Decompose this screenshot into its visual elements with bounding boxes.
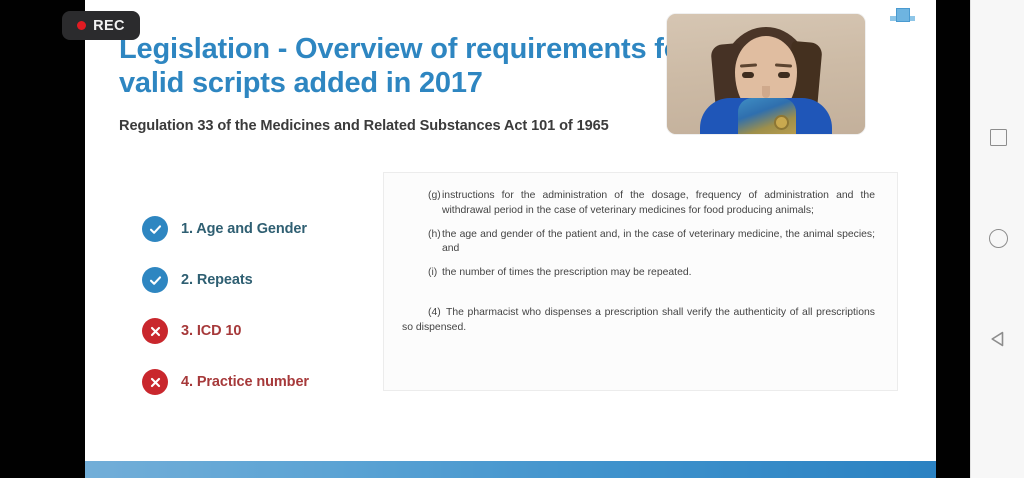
legislation-excerpt-panel: (g) instructions for the administration …: [383, 172, 898, 391]
system-navigation-bar: [970, 0, 1024, 478]
document-subclause: (4)The pharmacist who dispenses a prescr…: [402, 305, 879, 335]
page-title: Legislation - Overview of requirements f…: [119, 33, 759, 101]
list-item: 1. Age and Gender: [142, 212, 412, 246]
square-icon: [990, 129, 1007, 146]
clause-text: instructions for the administration of t…: [442, 189, 879, 219]
nav-recents-button[interactable]: [971, 110, 1024, 164]
recording-badge[interactable]: REC: [62, 11, 140, 40]
check-circle-icon: [142, 216, 168, 242]
screen-root: Legislation - Overview of requirements f…: [0, 0, 1024, 478]
clause-marker: (h): [402, 228, 442, 258]
slide-decorative-glyph: [890, 4, 914, 24]
document-clause: (h) the age and gender of the patient an…: [402, 228, 879, 258]
clause-marker: (g): [402, 189, 442, 219]
check-circle-icon: [142, 267, 168, 293]
list-item-label: 3. ICD 10: [181, 323, 241, 339]
triangle-back-icon: [988, 329, 1008, 354]
circle-icon: [989, 229, 1008, 248]
page-subtitle: Regulation 33 of the Medicines and Relat…: [119, 118, 759, 134]
list-item-label: 2. Repeats: [181, 272, 253, 288]
letterbox-right: [936, 0, 970, 478]
x-circle-icon: [142, 318, 168, 344]
list-item: 3. ICD 10: [142, 314, 412, 348]
document-clause: (i) the number of times the prescription…: [402, 266, 879, 281]
list-item: 2. Repeats: [142, 263, 412, 297]
list-item: 4. Practice number: [142, 365, 412, 399]
nav-back-button[interactable]: [971, 314, 1024, 368]
subclause-text: The pharmacist who dispenses a prescript…: [402, 307, 875, 333]
subclause-marker: (4): [402, 305, 446, 320]
x-circle-icon: [142, 369, 168, 395]
scan-speck: [589, 311, 591, 313]
record-dot-icon: [77, 21, 86, 30]
slide-footer-bar: [85, 461, 936, 478]
requirements-checklist: 1. Age and Gender 2. Repeats 3. ICD 10: [142, 212, 412, 416]
clause-text: the age and gender of the patient and, i…: [442, 228, 879, 258]
letterbox-left: [0, 0, 85, 478]
list-item-label: 1. Age and Gender: [181, 221, 307, 237]
document-clause: (g) instructions for the administration …: [402, 189, 879, 219]
nav-home-button[interactable]: [971, 211, 1024, 265]
slide-footer-gap: [85, 450, 936, 461]
list-item-label: 4. Practice number: [181, 374, 309, 390]
presenter-video-thumbnail[interactable]: [667, 14, 865, 134]
recording-label: REC: [93, 18, 125, 34]
clause-text: the number of times the prescription may…: [442, 266, 879, 281]
clause-marker: (i): [402, 266, 442, 281]
